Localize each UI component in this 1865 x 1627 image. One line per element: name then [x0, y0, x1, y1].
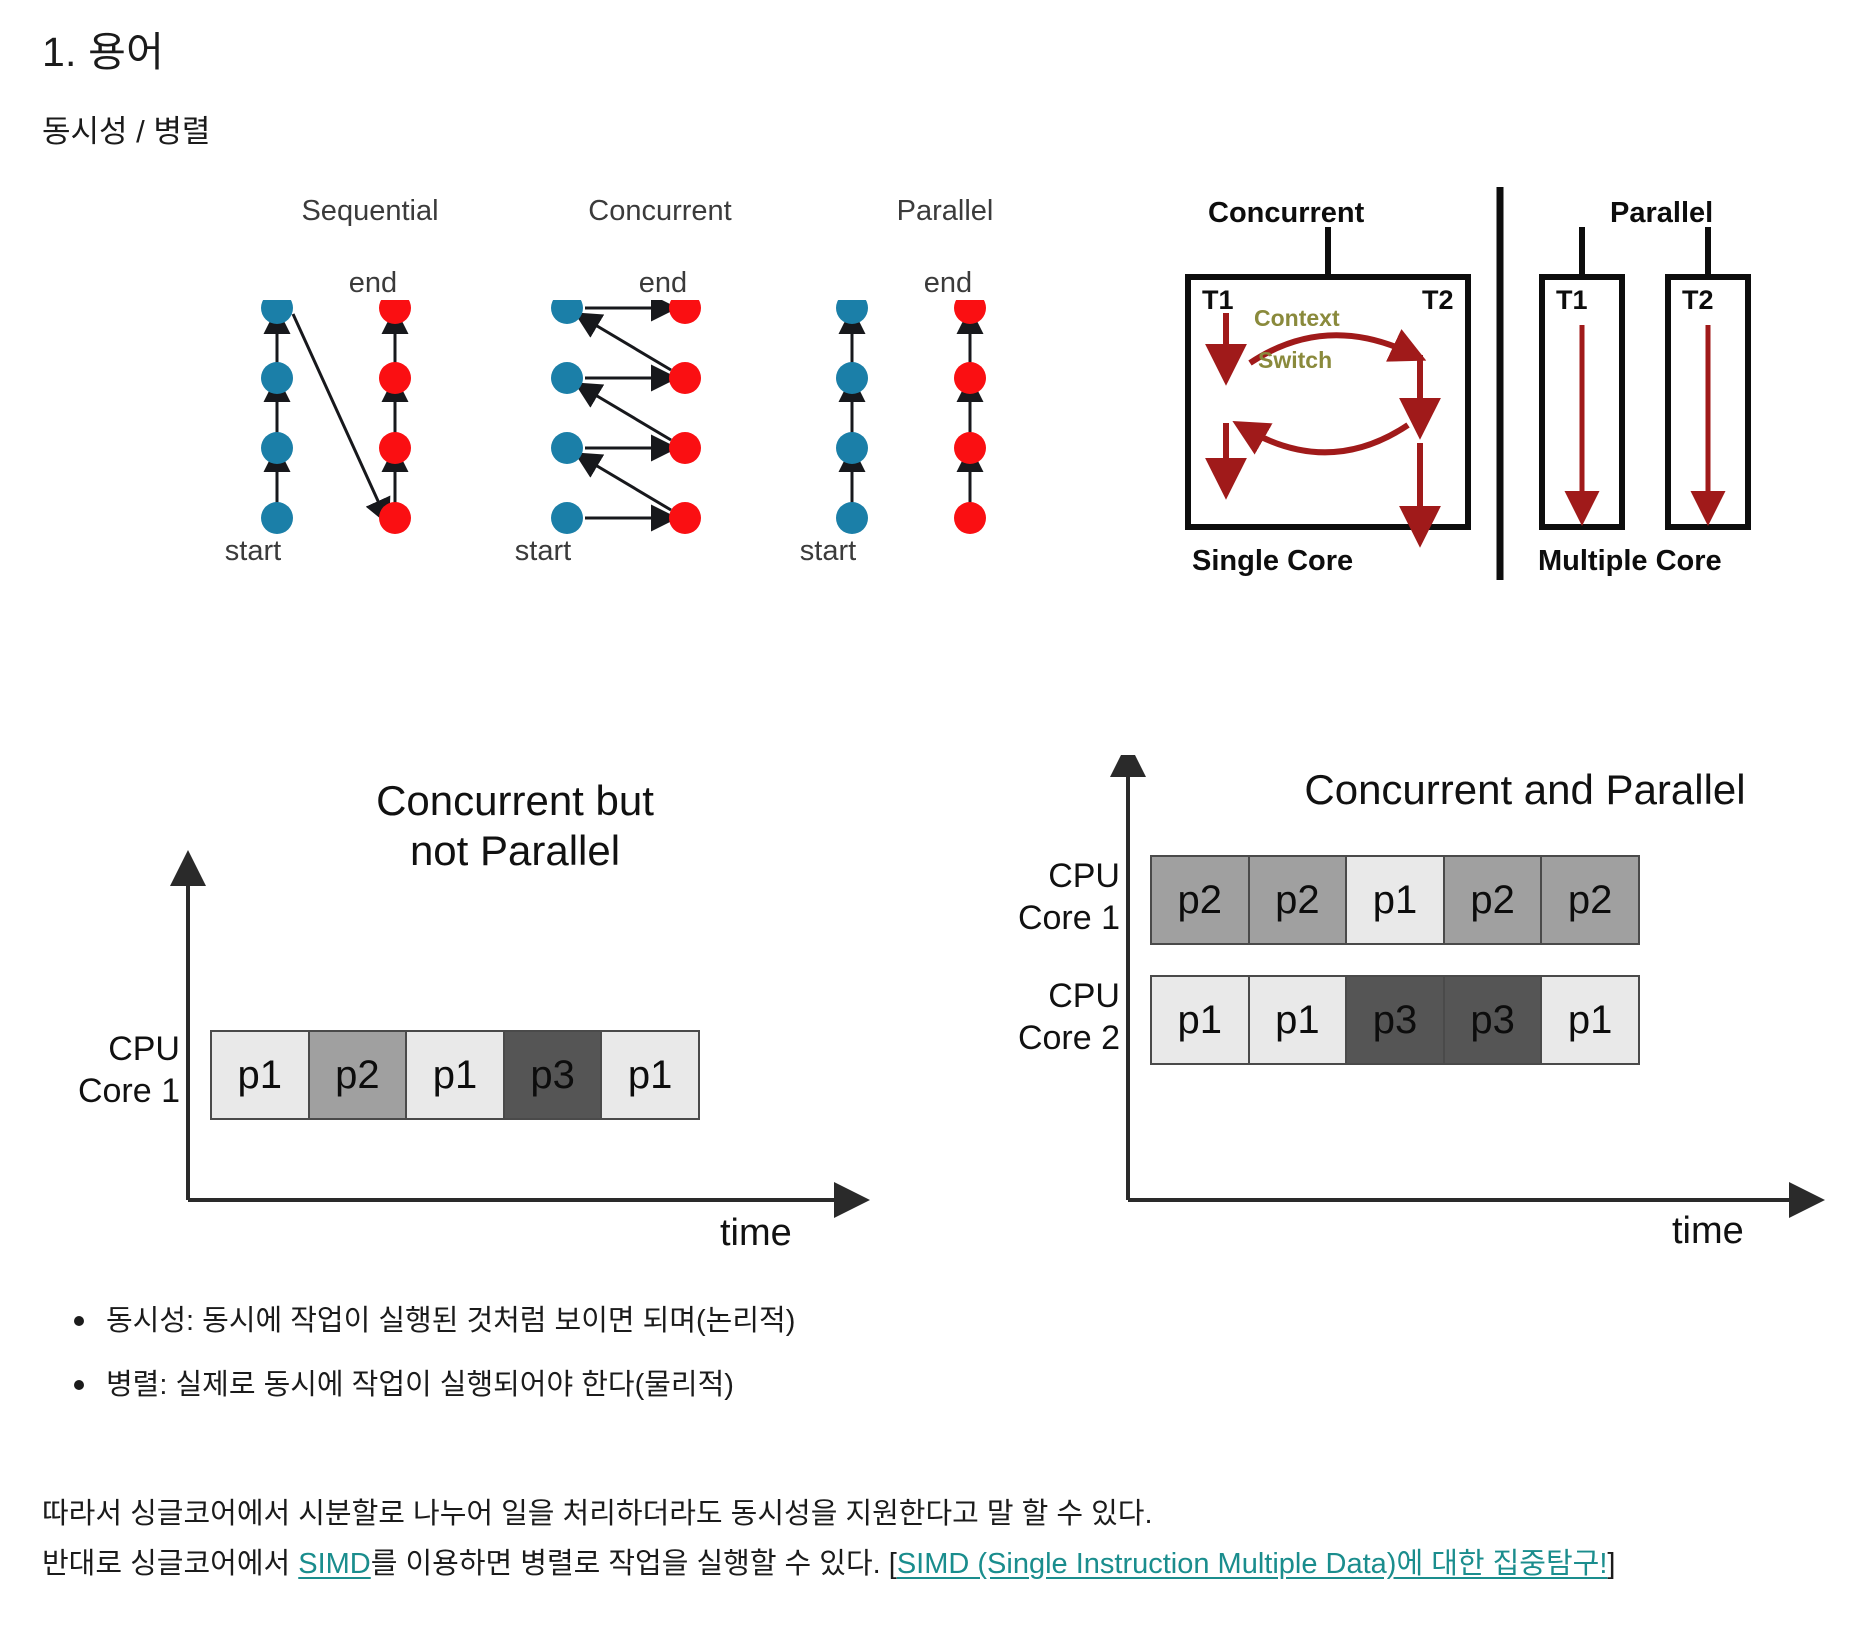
timeline-slot: p3	[1445, 977, 1543, 1063]
timeline-slot: p2	[1152, 857, 1250, 943]
switch-label: Switch	[1258, 347, 1332, 374]
timeline-slot: p1	[602, 1032, 698, 1118]
timeline-slot: p1	[407, 1032, 505, 1118]
timeline-slot: p1	[1152, 977, 1250, 1063]
concurrent-heading: Concurrent	[1208, 197, 1364, 230]
dots-group-parallel: Parallel end start	[810, 195, 1080, 595]
dots-diagram-concurrent	[525, 300, 795, 540]
y-axis-label-core2: CPU Core 2	[1000, 975, 1120, 1059]
list-item: 동시성: 동시에 작업이 실행된 것처럼 보이면 되며(논리적)	[42, 1300, 1142, 1342]
section-subtitle: 동시성 / 병렬	[42, 106, 210, 151]
dots-diagram-parallel	[810, 300, 1080, 540]
paragraph-mid: 를 이용하면 병렬로 작업을 실행할 수 있다. [	[371, 1548, 897, 1580]
thread1-label-concurrent: T1	[1202, 285, 1234, 316]
x-axis-label: time	[720, 1212, 792, 1255]
thread2-label-concurrent: T2	[1422, 285, 1454, 316]
simd-link[interactable]: SIMD	[298, 1548, 371, 1580]
list-item-text: 병렬: 실제로 동시에 작업이 실행되어야 한다(물리적)	[106, 1364, 734, 1406]
closing-paragraph: 따라서 싱글코어에서 시분할로 나누어 일을 처리하더라도 동시성을 지원한다고…	[42, 1490, 1842, 1590]
thread1-label-parallel: T1	[1556, 285, 1588, 316]
timeline-slot: p1	[1347, 857, 1445, 943]
paragraph-suffix: ]	[1607, 1548, 1615, 1580]
bullet-icon	[74, 1380, 84, 1390]
chart-concurrent-not-parallel: Concurrent but not Parallel CPU Core 1 p…	[60, 760, 900, 1270]
timeline-slot: p2	[1445, 857, 1543, 943]
single-core-label: Single Core	[1192, 545, 1353, 578]
timeline-row-core2: p1p1p3p3p1	[1150, 975, 1640, 1065]
dots-end-label: end	[313, 267, 433, 300]
dots-group-concurrent: Concurrent end start	[525, 195, 795, 595]
list-item-text: 동시성: 동시에 작업이 실행된 것처럼 보이면 되며(논리적)	[106, 1300, 795, 1342]
page-title: 1. 용어	[42, 18, 164, 78]
timeline-row-core1: p1p2p1p3p1	[210, 1030, 700, 1120]
dots-group-title: Sequential	[235, 195, 505, 228]
multiple-core-label: Multiple Core	[1538, 545, 1722, 578]
dots-group-title: Parallel	[810, 195, 1080, 228]
dots-diagram-sequential	[235, 300, 505, 540]
x-axis-label: time	[1672, 1210, 1744, 1253]
chart-axes	[60, 760, 900, 1270]
bullet-icon	[74, 1316, 84, 1326]
timeline-slot: p3	[505, 1032, 603, 1118]
y-axis-label-core1: CPU Core 1	[60, 1028, 180, 1112]
timeline-slot: p1	[1542, 977, 1638, 1063]
dots-end-label: end	[888, 267, 1008, 300]
definition-list: 동시성: 동시에 작업이 실행된 것처럼 보이면 되며(논리적) 병렬: 실제로…	[42, 1300, 1142, 1428]
thread2-label-parallel: T2	[1682, 285, 1714, 316]
timeline-slot: p2	[310, 1032, 408, 1118]
dots-end-label: end	[603, 267, 723, 300]
dots-group-title: Concurrent	[525, 195, 795, 228]
paragraph-line-1: 따라서 싱글코어에서 시분할로 나누어 일을 처리하더라도 동시성을 지원한다고…	[42, 1490, 1842, 1540]
paragraph-prefix: 반대로 싱글코어에서	[42, 1548, 298, 1580]
sequential-concurrent-parallel-figure: Sequential end start	[235, 195, 1165, 595]
list-item: 병렬: 실제로 동시에 작업이 실행되어야 한다(물리적)	[42, 1364, 1142, 1406]
timeline-slot: p1	[212, 1032, 310, 1118]
paragraph-line-2: 반대로 싱글코어에서 SIMD를 이용하면 병렬로 작업을 실행할 수 있다. …	[42, 1540, 1842, 1590]
core-diagram-svg	[1170, 185, 1850, 600]
timeline-slot: p2	[1250, 857, 1348, 943]
timeline-slot: p1	[1250, 977, 1348, 1063]
document-page: 1. 용어 동시성 / 병렬 Sequential end start	[0, 0, 1865, 1627]
timeline-row-core1: p2p2p1p2p2	[1150, 855, 1640, 945]
dots-group-sequential: Sequential end start	[235, 195, 505, 595]
simd-deep-dive-link[interactable]: SIMD (Single Instruction Multiple Data)에…	[897, 1548, 1608, 1580]
chart-concurrent-and-parallel: Concurrent and Parallel CPU Core 1 p2p2p…	[1000, 755, 1860, 1270]
context-label: Context	[1254, 305, 1340, 332]
concurrent-vs-parallel-core-figure: Concurrent Parallel T1 T2 Context Switch…	[1170, 185, 1850, 600]
parallel-heading: Parallel	[1610, 197, 1713, 230]
timeline-slot: p2	[1542, 857, 1638, 943]
y-axis-label-core1: CPU Core 1	[1000, 855, 1120, 939]
timeline-slot: p3	[1347, 977, 1445, 1063]
